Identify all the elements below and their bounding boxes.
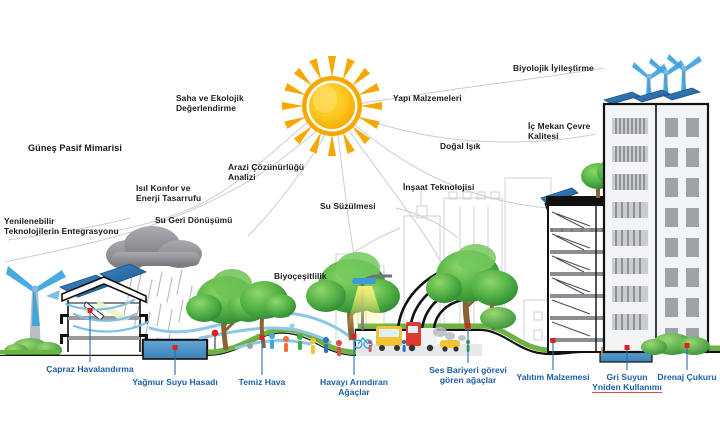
label-line-underlined: Yniden Kullanımı [592,382,662,393]
label-capraz-havalandirma: Çapraz Havalandırma [46,364,133,374]
label-line: Enerji Tasarrufu [136,194,201,204]
label-gunes-pasif-mimarisi: Güneş Pasif Mimarisi [28,143,122,154]
label-line: Yapı Malzemeleri [393,94,462,104]
label-line: Biyolojik İyileştirme [513,64,594,74]
label-temiz-hava: Temiz Hava [239,377,286,387]
label-line: Biyoçeşitlilik [274,272,327,282]
label-arazi-cozunurlugu-analizi: Arazi Çözünürlüğü Analizi [228,163,304,183]
label-gri-suyun-yniden-kullanimi: Gri Suyun Yniden Kullanımı [592,372,662,393]
infographic-canvas: Güneş Pasif Mimarisi Saha ve Ekolojik De… [0,0,720,427]
label-su-geri-donusumu: Su Geri Dönüşümü [155,216,232,226]
label-line: Gri Suyun [592,372,662,382]
label-line: Ağaçlar [320,387,388,397]
label-isil-konfor-ve-enerji-tasarrufu: Isıl Konfor ve Enerji Tasarrufu [136,184,201,204]
label-su-suzulmesi: Su Süzülmesi [320,202,376,212]
scene-artwork [0,0,720,427]
label-yagmur-suyu-hasadi: Yağmur Suyu Hasadı [132,377,218,387]
label-line: İnşaat Teknolojisi [403,183,474,193]
label-line: Teknolojilerin Entegrasyonu [4,227,119,237]
sun-icon [282,56,382,156]
label-yapi-malzemeleri: Yapı Malzemeleri [393,94,462,104]
label-line: Çapraz Havalandırma [46,364,133,374]
label-yenilenebilir-teknolojilerin-entegrasyonu: Yenilenebilir Teknolojilerin Entegrasyon… [4,217,119,237]
label-line: Su Geri Dönüşümü [155,216,232,226]
label-line: Havayı Arındıran [320,377,388,387]
label-line: Yalıtım Malzemesi [516,372,589,382]
label-drenaj-cukuru: Drenaj Çukuru [657,372,716,382]
label-ses-bariyeri-gorevi-goren-agaclar: Ses Bariyeri görevi gören ağaçlar [429,365,507,385]
label-saha-ve-ekolojik-degerlendirme: Saha ve Ekolojik Değerlendirme [176,94,244,114]
label-line: Drenaj Çukuru [657,372,716,382]
label-line: Su Süzülmesi [320,202,376,212]
label-line: Temiz Hava [239,377,286,387]
label-line: Değerlendirme [176,104,244,114]
label-insaat-teknolojisi: İnşaat Teknolojisi [403,183,474,193]
label-line: Kalitesi [528,132,590,142]
label-biyolojik-iyilestirme: Biyolojik İyileştirme [513,64,594,74]
label-line: Doğal Işık [440,142,481,152]
label-biyocesitlilik: Biyoçeşitlilik [274,272,327,282]
label-line: Güneş Pasif Mimarisi [28,143,122,154]
label-ic-mekan-cevre-kalitesi: İç Mekan Çevre Kalitesi [528,122,590,142]
label-yalitim-malzemesi: Yalıtım Malzemesi [516,372,589,382]
label-line: Ses Bariyeri görevi [429,365,507,375]
label-havayi-arindiran-agaclar: Havayı Arındıran Ağaçlar [320,377,388,397]
label-line: Analizi [228,173,304,183]
label-line: Yağmur Suyu Hasadı [132,377,218,387]
label-line: gören ağaçlar [429,375,507,385]
label-dogal-isik: Doğal Işık [440,142,481,152]
